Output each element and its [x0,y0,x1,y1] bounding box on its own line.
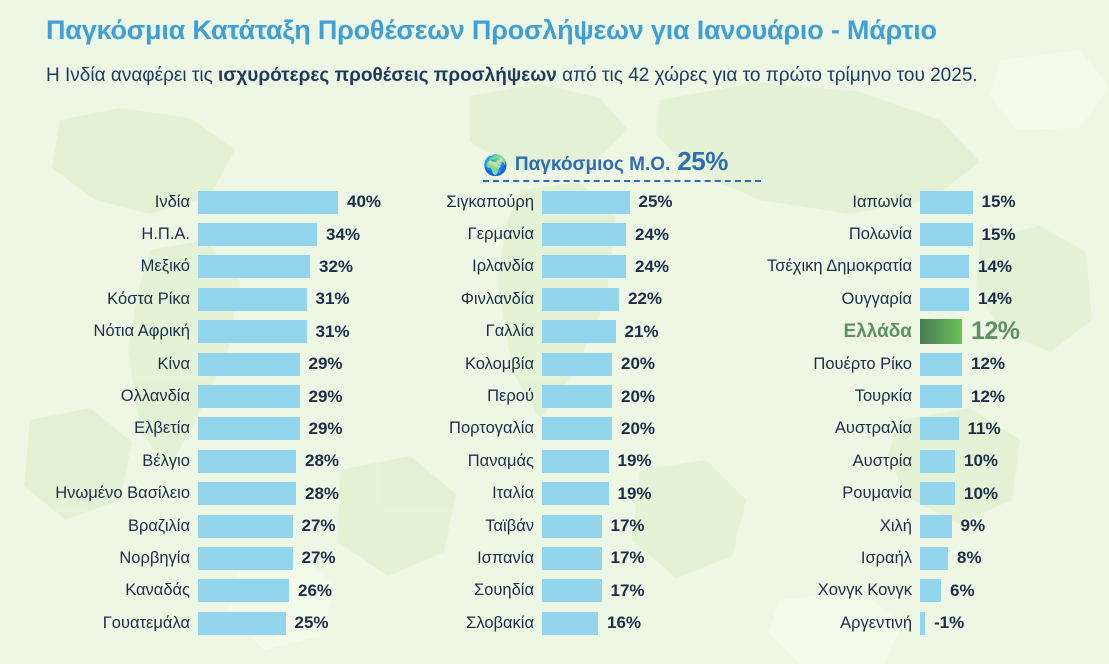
globe-icon: 🌍 [483,156,508,176]
bar-value: 34% [317,225,360,245]
bar-track [198,385,300,408]
bar-label: Ελλάδα [740,321,920,343]
bar-value: 17% [602,548,645,568]
bar-fill [542,288,619,311]
bar-track [542,482,609,505]
bar-label: Πορτογαλία [390,419,542,438]
bar-value: 14% [969,257,1012,277]
bar-label: Νορβηγία [0,549,198,568]
bar-value: 40% [338,192,381,212]
bar-row[interactable]: Νότια Αφρική31% [0,316,390,348]
bar-fill [920,319,962,344]
bar-track [542,417,612,440]
bar-track [542,612,598,635]
bar-value: 32% [310,257,353,277]
bar-value: 26% [289,581,332,601]
bar-value: 15% [973,225,1016,245]
bar-label: Ολλανδία [0,387,198,406]
bar-value: 31% [307,322,350,342]
bar-label: Πολωνία [740,225,920,244]
bar-value: 9% [952,516,986,536]
bar-row[interactable]: Βραζιλία27% [0,510,390,542]
bar-value: 20% [612,387,655,407]
bar-track [542,450,609,473]
bar-label: Σλοβακία [390,614,542,633]
bar-track [920,223,973,246]
bar-row[interactable]: Μεξικό32% [0,251,390,283]
global-average-banner: 🌍 Παγκόσμιος Μ.Ο. 25% [483,146,765,182]
bar-value: 27% [293,548,336,568]
bar-chart-columns: Ινδία40%Η.Π.Α.34%Μεξικό32%Κόστα Ρίκα31%Ν… [0,186,1109,639]
bar-track [542,385,612,408]
bar-fill [920,482,955,505]
bar-row[interactable]: Περού20% [390,380,740,412]
bar-fill [542,450,609,473]
bar-track [920,547,948,570]
bar-row[interactable]: Χιλή9% [740,510,1109,542]
bar-row[interactable]: Κολομβία20% [390,348,740,380]
bar-label: Αυστρία [740,452,920,471]
bar-row[interactable]: Ιταλία19% [390,478,740,510]
bar-row[interactable]: Καναδάς26% [0,575,390,607]
bar-column-1: Σιγκαπούρη25%Γερμανία24%Ιρλανδία24%Φινλα… [390,186,740,639]
bar-track [542,547,602,570]
bar-row[interactable]: Ιαπωνία15% [740,186,1109,218]
bar-value: 12% [962,387,1005,407]
bar-fill [542,385,612,408]
bar-fill [920,450,955,473]
bar-track [198,320,307,343]
bar-value: 24% [626,225,669,245]
bar-fill [920,579,941,602]
bar-fill [198,255,310,278]
bar-track [542,320,616,343]
bar-value: 27% [293,516,336,536]
bar-column-0: Ινδία40%Η.Π.Α.34%Μεξικό32%Κόστα Ρίκα31%Ν… [0,186,390,639]
bar-fill [542,320,616,343]
bar-label: Κίνα [0,355,198,374]
bar-value: 22% [619,289,662,309]
bar-label: Βραζιλία [0,517,198,536]
bar-label: Χιλή [740,517,920,536]
bar-value: 21% [616,322,659,342]
bar-value: 6% [941,581,975,601]
subtitle-emphasis: ισχυρότερες προθέσεις προσλήψεων [218,65,557,86]
bar-value: 8% [948,548,982,568]
bar-value: 25% [286,613,329,633]
bar-row[interactable]: Γαλλία21% [390,316,740,348]
bar-row[interactable]: Ισραήλ8% [740,542,1109,574]
bar-fill [920,255,969,278]
bar-value: 12% [962,354,1005,374]
bar-track [542,579,602,602]
bar-track [542,288,619,311]
bar-fill [198,482,296,505]
bar-fill [542,482,609,505]
bar-label: Ισπανία [390,549,542,568]
bar-label: Ηνωμένο Βασίλειο [0,484,198,503]
bar-label: Η.Π.Α. [0,225,198,244]
bar-track [198,223,317,246]
header: Παγκόσμια Κατάταξη Προθέσεων Προσλήψεων … [0,0,1109,90]
bar-fill [542,579,602,602]
bar-track [920,288,969,311]
bar-row[interactable]: Πουέρτο Ρίκο12% [740,348,1109,380]
bar-row[interactable]: Νορβηγία27% [0,542,390,574]
bar-fill [542,353,612,376]
bar-fill [920,288,969,311]
bar-track [542,515,602,538]
bar-track [198,450,296,473]
bar-track [920,417,959,440]
bar-value: 20% [612,419,655,439]
bar-row[interactable]: Σιγκαπούρη25% [390,186,740,218]
bar-value: 19% [609,484,652,504]
bar-value: 29% [300,387,343,407]
bar-fill [198,579,289,602]
bar-row[interactable]: Αργεντινή-1% [740,607,1109,639]
bar-value: 24% [626,257,669,277]
bar-row[interactable]: Ελβετία29% [0,413,390,445]
bar-row[interactable]: Χονγκ Κονγκ6% [740,575,1109,607]
bar-fill [542,255,626,278]
subtitle-text-lead: Η Ινδία αναφέρει τις [46,65,218,86]
bar-fill [198,288,307,311]
bar-label: Χονγκ Κονγκ [740,581,920,600]
bar-fill [198,515,293,538]
bar-row[interactable]: Φινλανδία22% [390,283,740,315]
bar-fill [198,320,307,343]
bar-row[interactable]: Παναμάς19% [390,445,740,477]
bar-label: Αργεντινή [740,614,920,633]
page-subtitle: Η Ινδία αναφέρει τις ισχυρότερες προθέσε… [46,62,1006,90]
bar-label: Γουατεμάλα [0,614,198,633]
bar-fill [920,385,962,408]
bar-value: 17% [602,516,645,536]
bar-label: Ιαπωνία [740,193,920,212]
bar-fill [920,191,973,214]
bar-row[interactable]: Ουγγαρία14% [740,283,1109,315]
bar-row[interactable]: Βέλγιο28% [0,445,390,477]
bar-row[interactable]: Ιρλανδία24% [390,251,740,283]
bar-track [920,255,969,278]
bar-label: Ισραήλ [740,549,920,568]
bar-label: Νότια Αφρική [0,322,198,341]
bar-value: 19% [609,451,652,471]
bar-track [198,417,300,440]
bar-label: Τσέχικη Δημοκρατία [740,257,920,276]
bar-value: 10% [955,451,998,471]
bar-row[interactable]: Κόστα Ρίκα31% [0,283,390,315]
global-average-dashed-line [483,180,761,182]
bar-track [542,353,612,376]
bar-row[interactable]: Ισπανία17% [390,542,740,574]
global-average-value: 25% [677,146,728,177]
bar-track [198,579,289,602]
subtitle-text-tail: από τις 42 χώρες για το πρώτο τρίμηνο το… [557,65,978,86]
bar-track [542,255,626,278]
bar-row[interactable]: Πορτογαλία20% [390,413,740,445]
bar-label: Ινδία [0,193,198,212]
bar-value: 17% [602,581,645,601]
bar-label: Βέλγιο [0,452,198,471]
bar-value: 15% [973,192,1016,212]
bar-value: -1% [925,613,964,633]
bar-track [920,450,955,473]
bar-label: Παναμάς [390,452,542,471]
bar-row[interactable]: Κίνα29% [0,348,390,380]
bar-fill [920,417,959,440]
infographic-root: Παγκόσμια Κατάταξη Προθέσεων Προσλήψεων … [0,0,1109,664]
bar-label: Ταϊβάν [390,517,542,536]
bar-fill [198,612,286,635]
bar-row[interactable]: Γερμανία24% [390,218,740,250]
bar-fill [198,450,296,473]
bar-fill [198,385,300,408]
bar-value: 29% [300,419,343,439]
bar-fill [542,612,598,635]
bar-track [198,612,286,635]
bar-label: Γερμανία [390,225,542,244]
bar-label: Κόστα Ρίκα [0,290,198,309]
bar-value: 31% [307,289,350,309]
bar-row[interactable]: Ηνωμένο Βασίλειο28% [0,478,390,510]
bar-column-2: Ιαπωνία15%Πολωνία15%Τσέχικη Δημοκρατία14… [740,186,1109,639]
bar-row[interactable]: Ρουμανία10% [740,478,1109,510]
bar-label: Σιγκαπούρη [390,193,542,212]
bar-value: 12% [962,317,1020,346]
bar-label: Περού [390,387,542,406]
bar-label: Ιρλανδία [390,257,542,276]
bar-track [198,191,338,214]
bar-fill [542,547,602,570]
bar-fill [542,223,626,246]
bar-fill [920,547,948,570]
bar-label: Φινλανδία [390,290,542,309]
global-average-row: 🌍 Παγκόσμιος Μ.Ο. 25% [483,146,765,177]
bar-value: 28% [296,484,339,504]
bar-track [920,385,962,408]
bar-row[interactable]: Αυστρία10% [740,445,1109,477]
bar-label: Ουγγαρία [740,290,920,309]
bar-label: Ρουμανία [740,484,920,503]
bar-track [920,579,941,602]
bar-label: Ελβετία [0,419,198,438]
bar-fill [542,417,612,440]
bar-row[interactable]: Ταϊβάν17% [390,510,740,542]
bar-fill [920,515,952,538]
bar-row[interactable]: Τουρκία12% [740,380,1109,412]
bar-track [542,191,630,214]
bar-value: 14% [969,289,1012,309]
bar-row[interactable]: Αυστραλία11% [740,413,1109,445]
page-title: Παγκόσμια Κατάταξη Προθέσεων Προσλήψεων … [46,14,1069,46]
bar-label: Σουηδία [390,581,542,600]
bar-fill [198,223,317,246]
bar-track [920,191,973,214]
bar-row[interactable]: Σλοβακία16% [390,607,740,639]
bar-fill [542,191,630,214]
bar-value: 16% [598,613,641,633]
bar-value: 20% [612,354,655,374]
bar-value: 29% [300,354,343,374]
bar-track [198,515,293,538]
bar-label: Τουρκία [740,387,920,406]
bar-track [920,482,955,505]
bar-track [198,482,296,505]
bar-track [920,515,952,538]
bar-value: 10% [955,484,998,504]
bar-fill [198,353,300,376]
bar-fill [198,547,293,570]
global-average-label: Παγκόσμιος Μ.Ο. [515,154,670,176]
bar-row[interactable]: Η.Π.Α.34% [0,218,390,250]
bar-value: 11% [959,419,1001,439]
bar-fill [198,191,338,214]
bar-row[interactable]: Σουηδία17% [390,575,740,607]
bar-label: Γαλλία [390,322,542,341]
bar-value: 28% [296,451,339,471]
bar-fill [920,223,973,246]
bar-track [198,547,293,570]
bar-row[interactable]: Ελλάδα12% [740,316,1109,348]
bar-label: Κολομβία [390,355,542,374]
bar-track [198,255,310,278]
bar-fill [920,353,962,376]
bar-track [920,353,962,376]
bar-track [198,353,300,376]
bar-label: Πουέρτο Ρίκο [740,355,920,374]
bar-value: 25% [630,192,673,212]
bar-track [198,288,307,311]
bar-label: Ιταλία [390,484,542,503]
bar-row[interactable]: Ινδία40% [0,186,390,218]
bar-label: Καναδάς [0,581,198,600]
bar-fill [542,515,602,538]
bar-track [542,223,626,246]
bar-label: Μεξικό [0,257,198,276]
bar-row[interactable]: Πολωνία15% [740,218,1109,250]
bar-track [920,319,962,344]
bar-row[interactable]: Ολλανδία29% [0,380,390,412]
bar-row[interactable]: Γουατεμάλα25% [0,607,390,639]
bar-label: Αυστραλία [740,419,920,438]
bar-row[interactable]: Τσέχικη Δημοκρατία14% [740,251,1109,283]
bar-fill [198,417,300,440]
